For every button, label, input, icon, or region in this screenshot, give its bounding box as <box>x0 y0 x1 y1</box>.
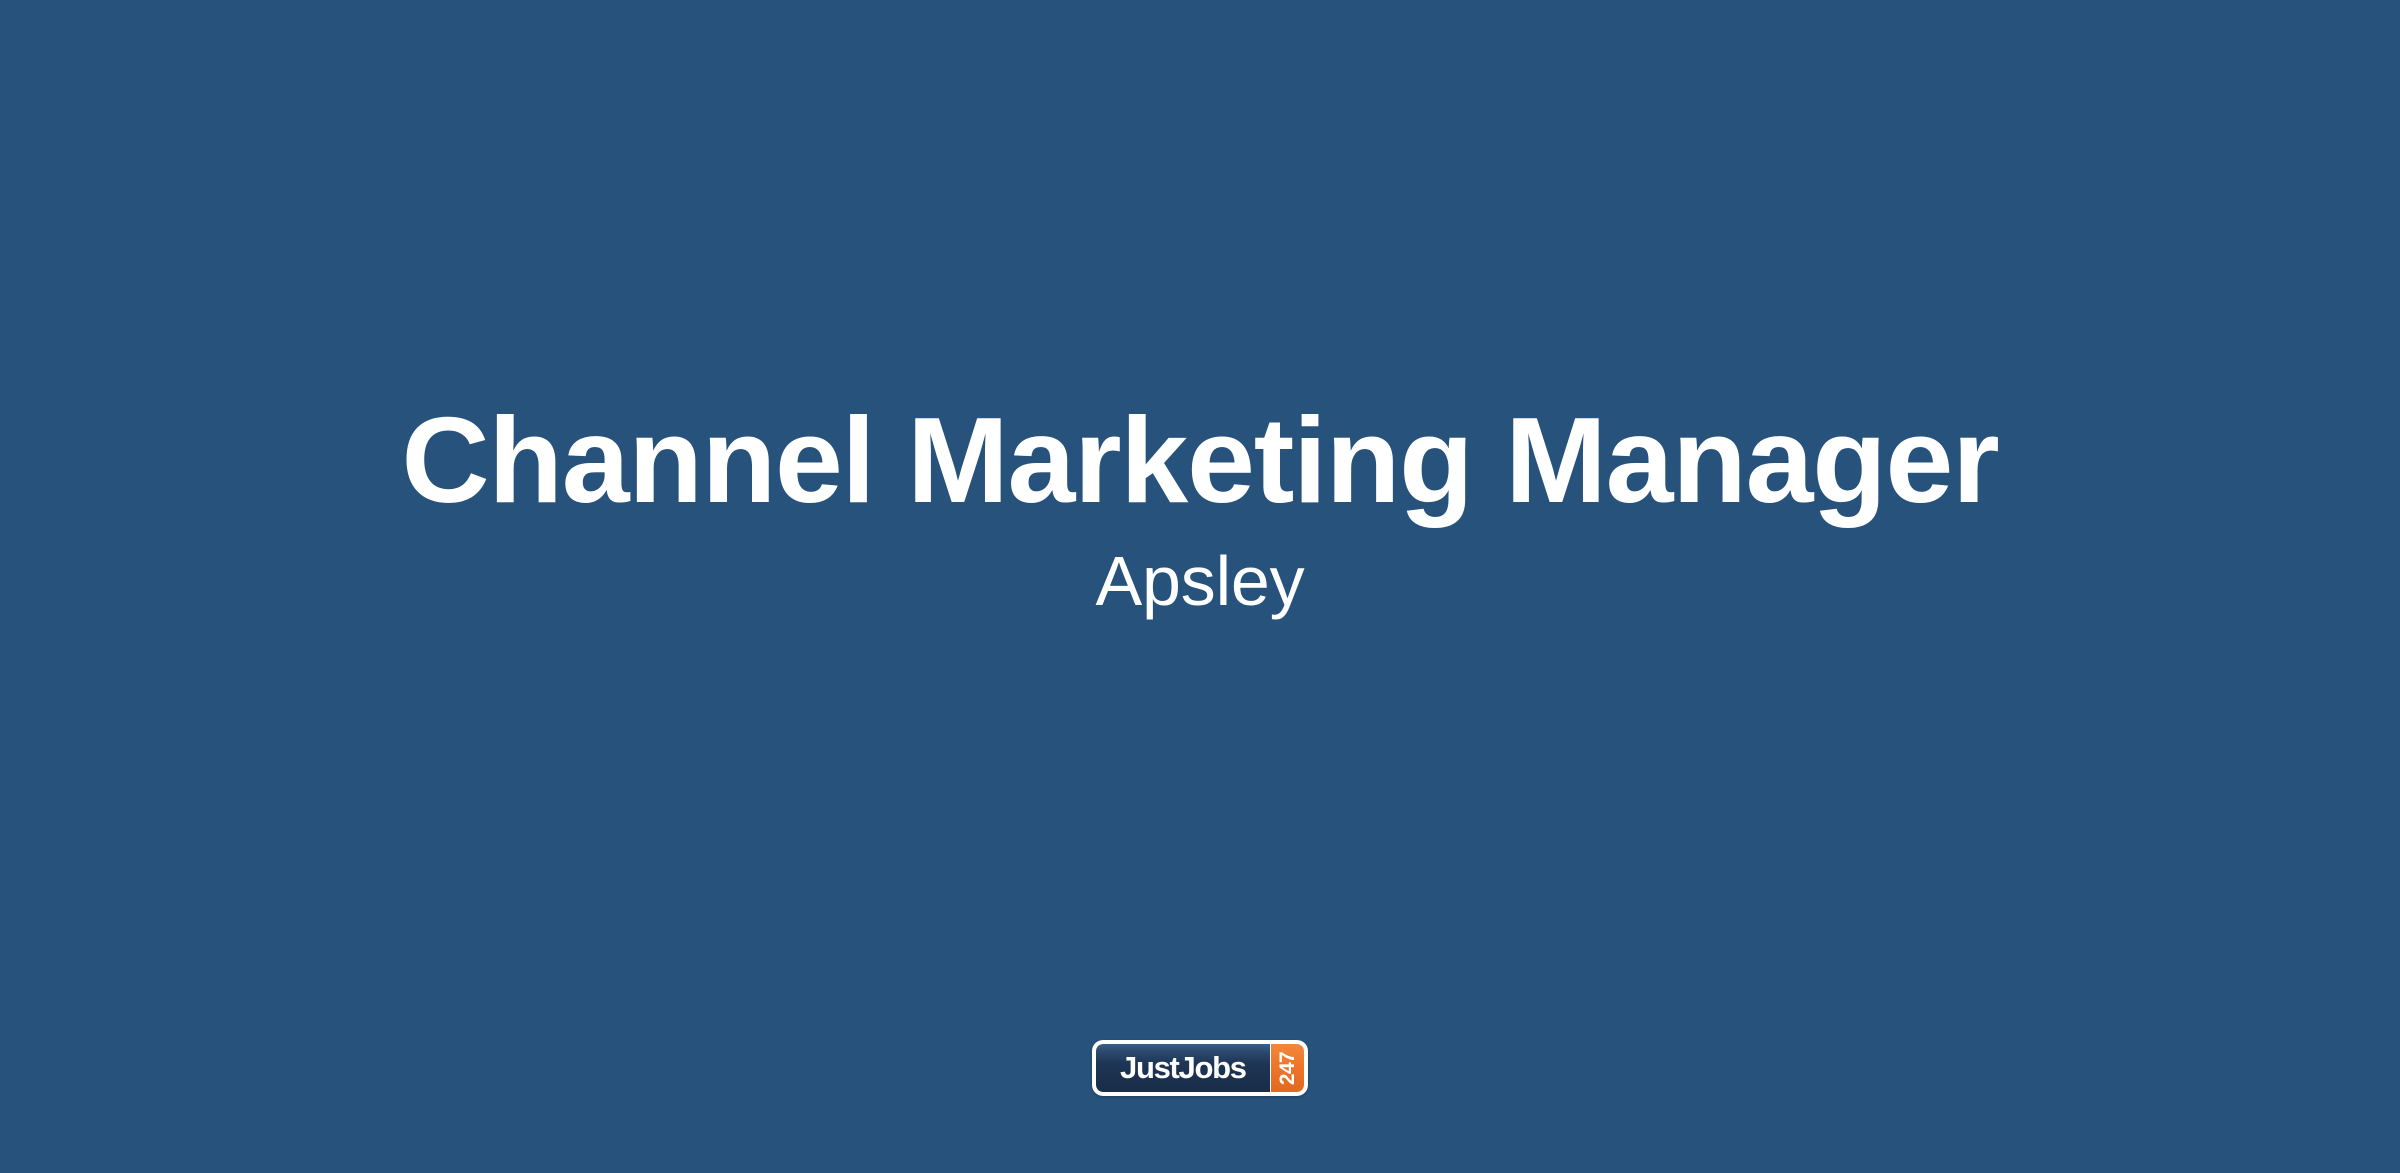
hero-text-block: Channel Marketing Manager Apsley <box>0 392 2400 621</box>
page-title: Channel Marketing Manager <box>0 392 2400 529</box>
logo-inner-panel: JustJobs 247 <box>1096 1044 1304 1092</box>
logo-wordmark-panel: JustJobs <box>1096 1044 1270 1092</box>
job-posting-splash: Channel Marketing Manager Apsley JustJob… <box>0 0 2400 1173</box>
footer-brand: JustJobs 247 <box>0 1040 2400 1096</box>
logo-wordmark-text: JustJobs <box>1120 1052 1246 1085</box>
company-name: Apsley <box>0 541 2400 622</box>
logo-badge-text: 247 <box>1277 1051 1298 1084</box>
justjobs247-logo[interactable]: JustJobs 247 <box>1092 1040 1308 1096</box>
logo-badge-panel: 247 <box>1270 1044 1304 1092</box>
